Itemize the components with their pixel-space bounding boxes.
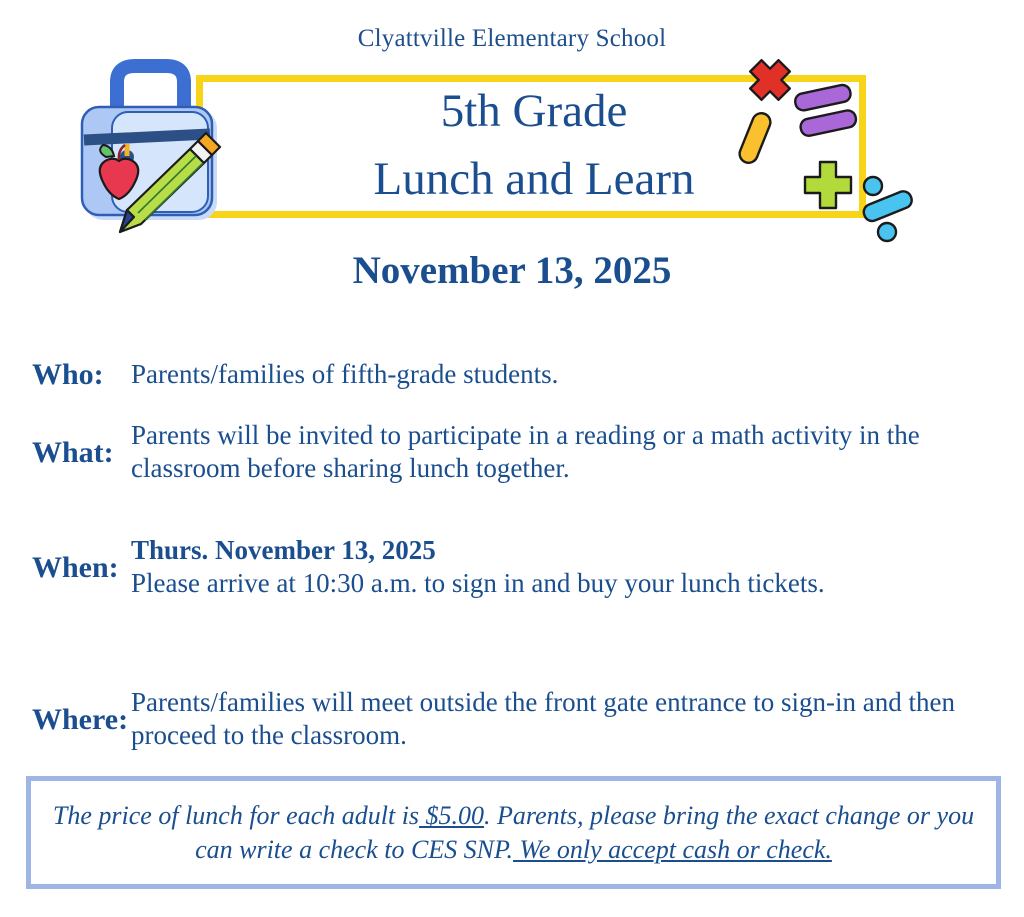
notice-price-underlined: $5.00 xyxy=(419,801,484,830)
detail-label-when: When: xyxy=(0,551,131,584)
notice-part-1: The price of lunch for each adult is xyxy=(53,801,419,830)
detail-body-what: Parents will be invited to participate i… xyxy=(131,419,971,485)
detail-row-what: What: Parents will be invited to partici… xyxy=(0,411,1024,493)
detail-row-when: When: Thurs. November 13, 2025 Please ar… xyxy=(0,501,1024,633)
event-date: November 13, 2025 xyxy=(0,248,1024,293)
detail-text-where: Parents/families will meet outside the f… xyxy=(131,687,955,750)
detail-label-where: Where: xyxy=(0,703,131,736)
detail-body-who: Parents/families of fifth-grade students… xyxy=(131,358,558,391)
detail-row-where: Where: Parents/families will meet outsid… xyxy=(0,679,1024,759)
plus-symbol-icon xyxy=(805,162,851,208)
detail-body-where: Parents/families will meet outside the f… xyxy=(131,686,971,752)
detail-emphasis-when: Thurs. November 13, 2025 xyxy=(131,534,825,567)
detail-row-who: Who: Parents/families of fifth-grade stu… xyxy=(0,345,1024,403)
detail-label-who: Who: xyxy=(0,358,131,391)
details-list: Who: Parents/families of fifth-grade stu… xyxy=(0,345,1024,767)
price-notice-text: The price of lunch for each adult is $5.… xyxy=(31,799,996,866)
detail-text-who: Parents/families of fifth-grade students… xyxy=(131,359,558,389)
price-notice-box: The price of lunch for each adult is $5.… xyxy=(26,776,1001,889)
detail-text-when: Please arrive at 10:30 a.m. to sign in a… xyxy=(131,568,825,598)
slash-symbol-icon xyxy=(737,111,773,166)
banner: 5th Grade Lunch and Learn xyxy=(0,60,1024,235)
multiply-symbol-icon xyxy=(742,52,799,109)
detail-text-what: Parents will be invited to participate i… xyxy=(131,420,920,483)
detail-body-when: Thurs. November 13, 2025 Please arrive a… xyxy=(131,534,825,600)
lunchbox-icon xyxy=(60,52,240,242)
math-symbols-group xyxy=(730,50,915,245)
equals-symbol-icon xyxy=(794,84,858,138)
school-name: Clyattville Elementary School xyxy=(0,25,1024,53)
divide-symbol-icon xyxy=(861,177,914,241)
notice-payment-underlined: We only accept cash or check. xyxy=(513,835,832,864)
detail-label-what: What: xyxy=(0,436,131,469)
